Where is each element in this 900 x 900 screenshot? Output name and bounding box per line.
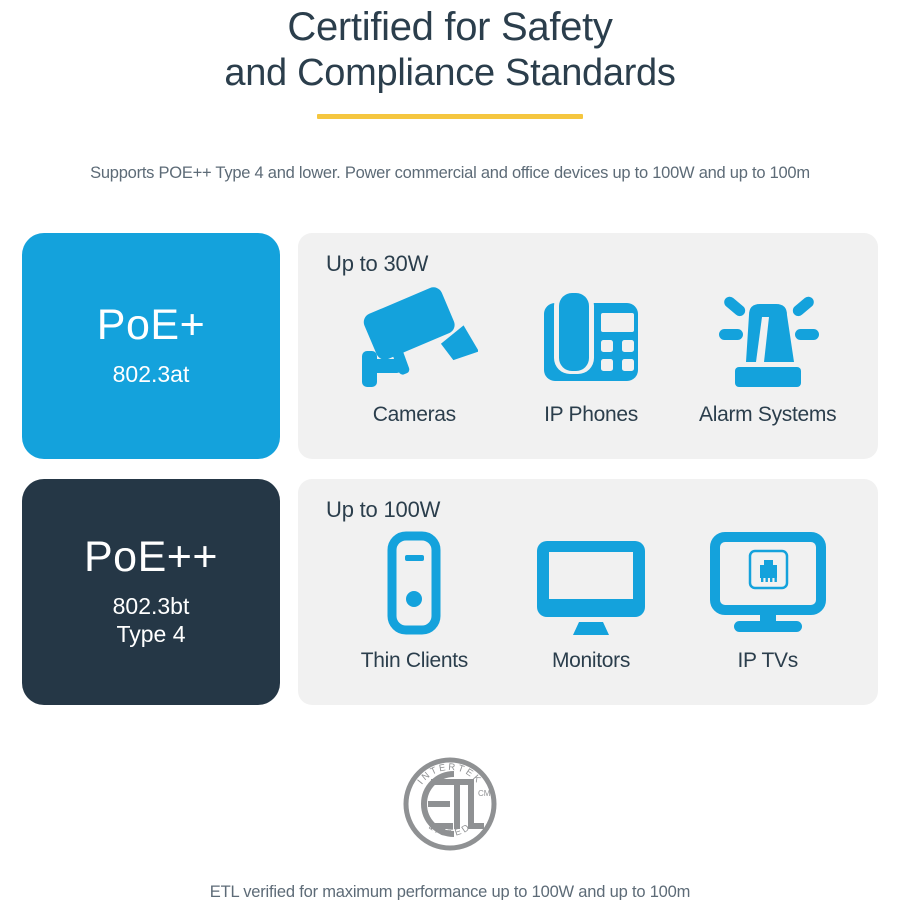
device-label: Monitors <box>552 649 630 673</box>
device-label: IP Phones <box>544 403 638 427</box>
device-item-ip-phones: IP Phones <box>503 281 680 427</box>
poe-plusplus-badge-card: PoE++ 802.3bt Type 4 <box>22 479 280 705</box>
title-underline-divider <box>317 114 583 119</box>
header: Certified for Safety and Compliance Stan… <box>0 0 900 183</box>
panel-power-heading: Up to 30W <box>326 251 856 277</box>
security-camera-icon <box>350 281 478 393</box>
certification-caption: ETL verified for maximum performance up … <box>210 883 690 900</box>
ip-phone-icon <box>539 281 643 393</box>
etl-cm-superscript: CM <box>478 789 491 798</box>
ip-tv-icon <box>708 527 828 639</box>
badge-standard: 802.3at <box>113 361 190 388</box>
monitor-icon <box>533 527 649 639</box>
etl-listed-intertek-logo: CM INTERTEK LISTED <box>398 752 502 861</box>
poe-tier-rows: PoE+ 802.3at Up to 30W <box>22 233 878 725</box>
page-title-line-2: and Compliance Standards <box>0 51 900 96</box>
thin-client-icon <box>381 527 447 639</box>
device-label: IP TVs <box>737 649 797 673</box>
poe-tier-row: PoE++ 802.3bt Type 4 Up to 100W <box>22 479 878 705</box>
poe-plusplus-device-panel: Up to 100W Thin Clients <box>298 479 878 705</box>
badge-type: Type 4 <box>116 621 185 648</box>
device-item-cameras: Cameras <box>326 281 503 427</box>
poe-tier-row: PoE+ 802.3at Up to 30W <box>22 233 878 459</box>
poe-plus-device-panel: Up to 30W <box>298 233 878 459</box>
device-item-monitors: Monitors <box>503 527 680 673</box>
device-item-thin-clients: Thin Clients <box>326 527 503 673</box>
device-item-alarm-systems: Alarm Systems <box>679 281 856 427</box>
badge-title: PoE+ <box>97 304 205 347</box>
page-title-line-1: Certified for Safety <box>0 4 900 51</box>
poe-plus-badge-card: PoE+ 802.3at <box>22 233 280 459</box>
page-subtitle: Supports POE++ Type 4 and lower. Power c… <box>0 164 900 183</box>
device-list: Thin Clients Monitors <box>326 527 856 673</box>
badge-standard: 802.3bt <box>113 593 190 620</box>
certification-block: CM INTERTEK LISTED ETL verified for maxi… <box>0 752 900 900</box>
badge-title: PoE++ <box>84 536 218 579</box>
device-label: Thin Clients <box>361 649 468 673</box>
infographic-page: Certified for Safety and Compliance Stan… <box>0 0 900 900</box>
device-label: Alarm Systems <box>699 403 836 427</box>
device-label: Cameras <box>373 403 456 427</box>
device-item-ip-tvs: IP TVs <box>679 527 856 673</box>
alarm-beacon-icon <box>705 281 831 393</box>
device-list: Cameras <box>326 281 856 427</box>
panel-power-heading: Up to 100W <box>326 497 856 523</box>
